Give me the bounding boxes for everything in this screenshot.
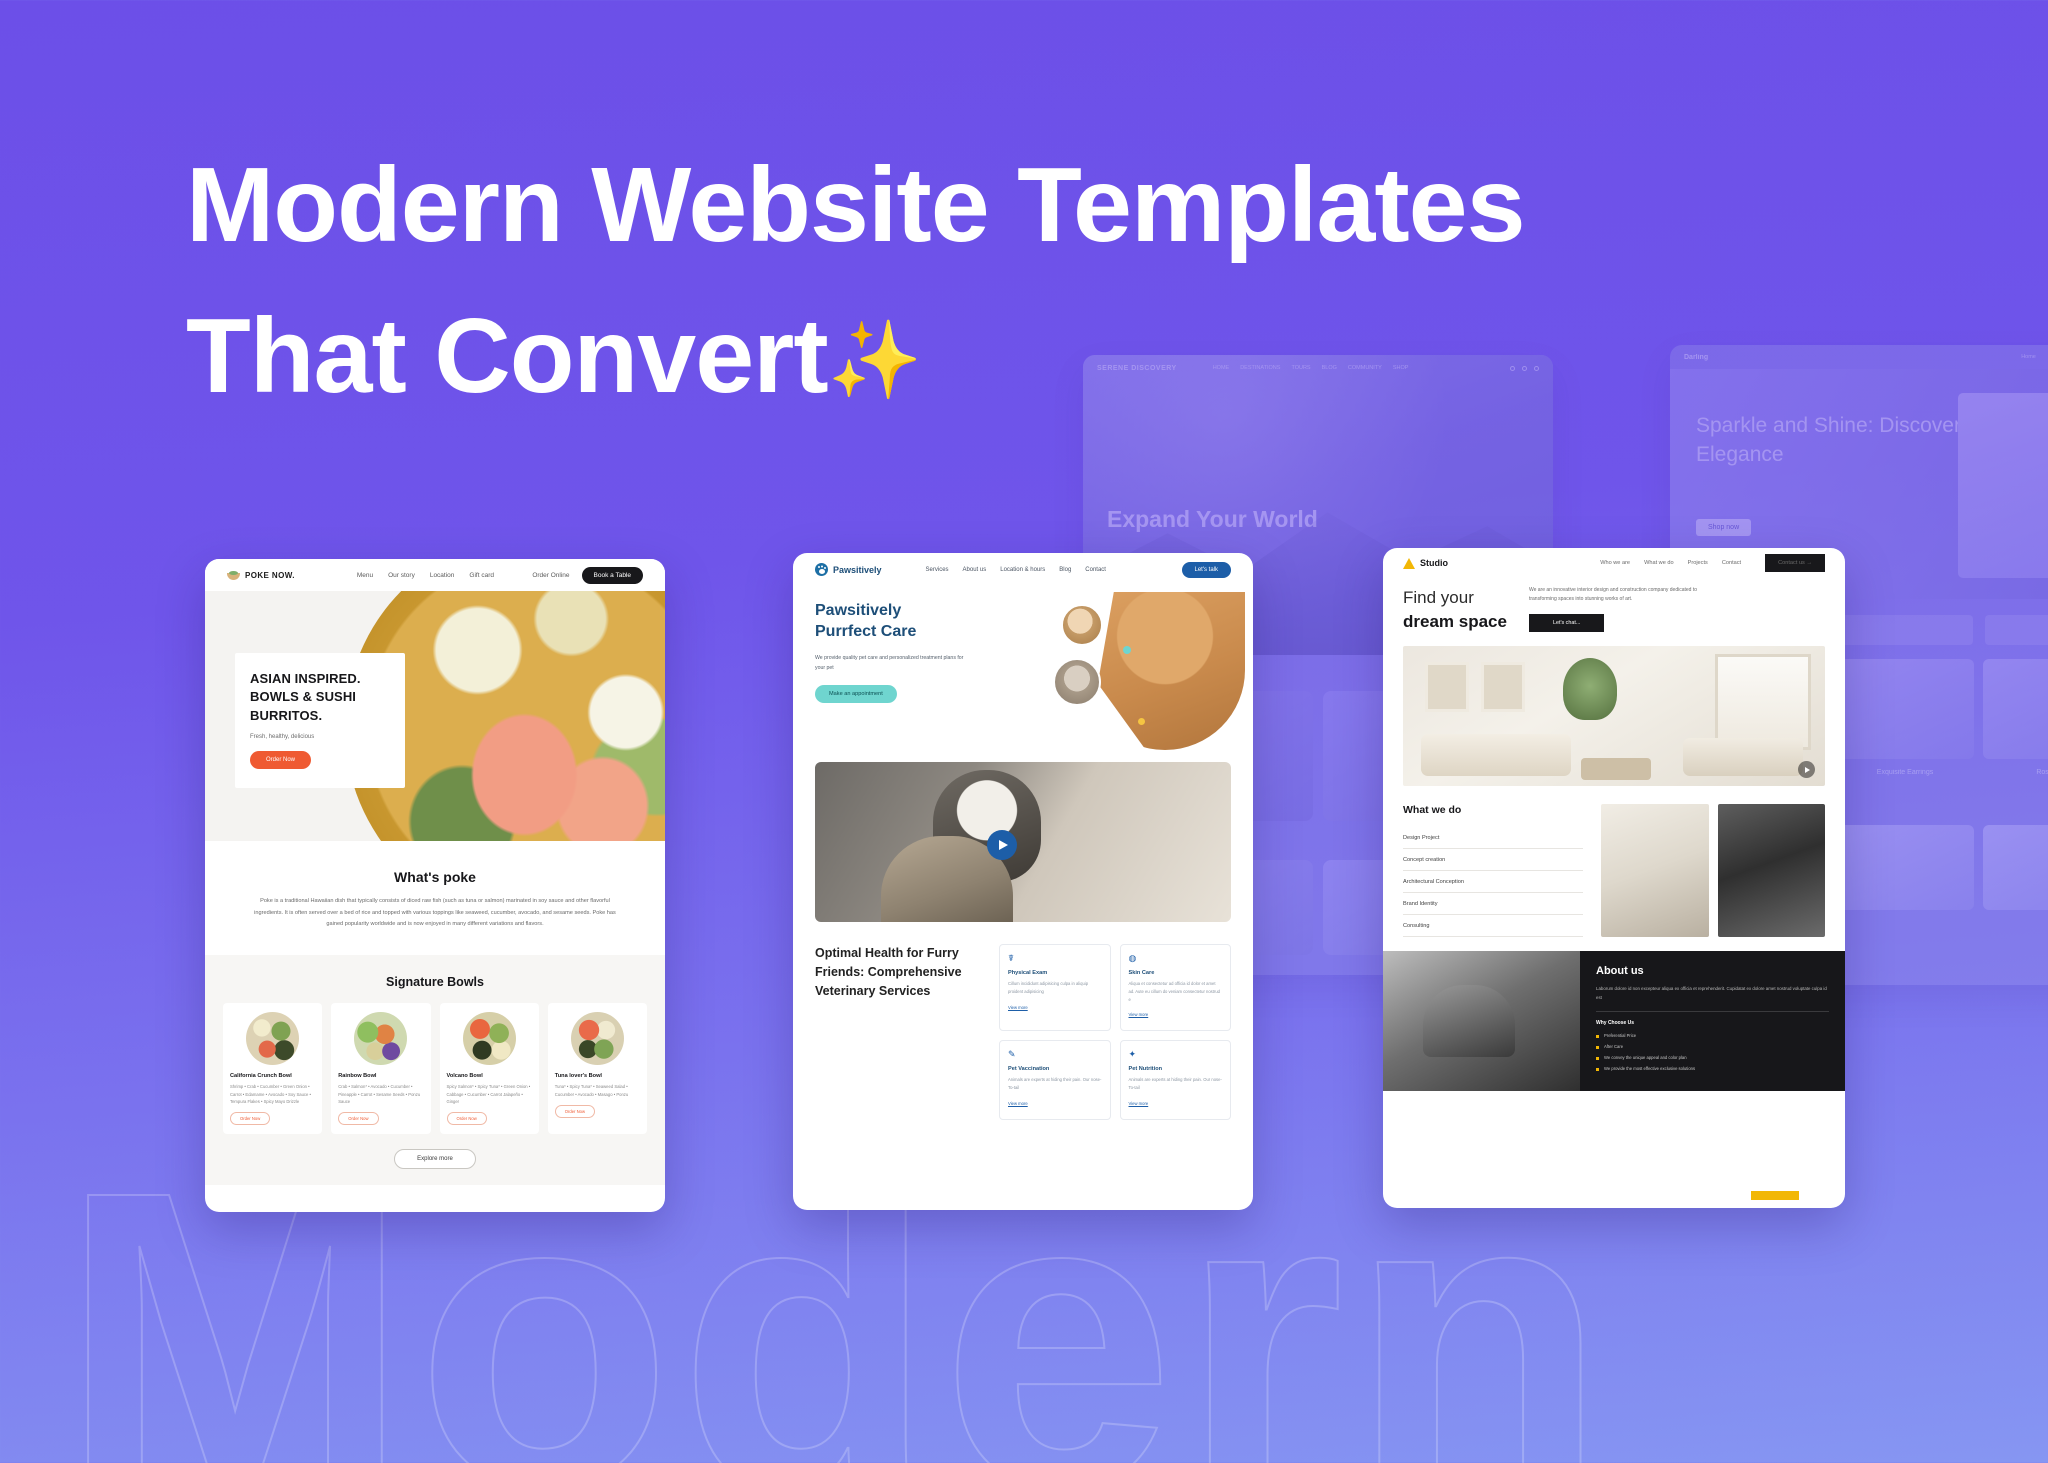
jewelry-collection-image[interactable] [1836, 825, 1975, 910]
poke-explore-more-button[interactable]: Explore more [394, 1149, 476, 1169]
sofa-icon [1421, 734, 1571, 776]
poke-signature-section: Signature Bowls California Crunch Bowl S… [205, 955, 665, 1185]
bowl-ingredients: Crab • Salmon* • Avocado • Cucumber • Pi… [338, 1083, 423, 1105]
paw-hero-title-line2: Purrfect Care [815, 623, 916, 640]
travel-nav-links[interactable]: HOME DESTINATIONS TOURS BLOG COMMUNITY S… [1213, 365, 1409, 371]
poke-hero: ASIAN INSPIRED. BOWLS & SUSHI BURRITOS. … [205, 591, 665, 841]
page-title: Modern Website Templates That Convert✨ [186, 130, 1886, 431]
paw-service-card[interactable]: ◍ Skin Care Aliqua et consectetur ad off… [1120, 944, 1232, 1031]
service-view-more-link[interactable]: View more [1008, 1101, 1028, 1106]
paw-brand-label: Pawsitively [833, 565, 882, 575]
studio-why-item: We convey the unique appeal and color pl… [1596, 1054, 1829, 1061]
poke-bowl-list: California Crunch Bowl Shrimp • Crab • C… [223, 1003, 647, 1134]
template-card-poke[interactable]: POKE NOW. Menu Our story Location Gift c… [205, 559, 665, 1212]
bowl-name: Volcano Bowl [447, 1073, 532, 1079]
studio-about-image [1383, 951, 1580, 1091]
paw-print-icon [815, 563, 828, 576]
poke-nav-links[interactable]: Menu Our story Location Gift card [357, 572, 494, 579]
paw-services-section: Optimal Health for Furry Friends: Compre… [793, 922, 1253, 1120]
jewelry-nav: Darling Home Shop Collections About [1670, 345, 2048, 369]
poke-nav-actions: Order Online Book a Table [532, 567, 643, 584]
studio-nav-item-what-we-do[interactable]: What we do [1644, 560, 1674, 566]
studio-nav-item-who-we-are[interactable]: Who we are [1600, 560, 1630, 566]
poke-nav-item-gift-card[interactable]: Gift card [469, 572, 494, 579]
service-name: Pet Vaccination [1008, 1066, 1102, 1072]
jewelry-product-image[interactable] [1836, 659, 1975, 759]
service-desc: Animals are experts at hiding their pain… [1129, 1076, 1223, 1092]
paw-nav-item-blog[interactable]: Blog [1059, 567, 1071, 573]
paw-nav-item-about-us[interactable]: About us [963, 567, 987, 573]
jewelry-collection-image[interactable] [1983, 825, 2048, 910]
studio-about-body: Laborum dolore id non excepteur aliqua e… [1596, 985, 1829, 1002]
paw-lets-talk-button[interactable]: Let's talk [1182, 562, 1232, 578]
studio-project-image [1601, 804, 1709, 937]
studio-nav-item-projects[interactable]: Projects [1688, 560, 1708, 566]
poke-signature-title: Signature Bowls [223, 975, 647, 989]
bowl-order-button[interactable]: Order Now [230, 1112, 270, 1125]
headline-line-2: That Convert [186, 297, 828, 415]
bowl-name: Rainbow Bowl [338, 1073, 423, 1079]
bowl-ingredients: Tuna* • Spicy Tuna* • Seaweed Salad • Cu… [555, 1083, 640, 1098]
studio-hero-desc: We are an innovative interior design and… [1529, 586, 1709, 605]
plant-icon [1563, 658, 1617, 720]
jewelry-badge [1837, 615, 1972, 645]
poke-bowl-card[interactable]: California Crunch Bowl Shrimp • Crab • C… [223, 1003, 322, 1134]
bowl-ingredients: Spicy Salmon* • Spicy Tuna* • Green Onio… [447, 1083, 532, 1105]
sparkles-icon: ✨ [828, 318, 922, 403]
bowl-name: California Crunch Bowl [230, 1073, 315, 1079]
jewelry-product-name: Rose Ring [1983, 769, 2048, 776]
cart-icon[interactable] [1534, 366, 1539, 371]
studio-hero-title-line2: dream space [1403, 612, 1507, 631]
studio-lets-chat-button[interactable]: Let's chat... [1529, 614, 1604, 632]
wall-art-icon [1481, 662, 1525, 712]
paw-service-grid: ☤ Physical Exam Cillum incididunt adipis… [999, 944, 1231, 1120]
studio-navbar: Studio Who we are What we do Projects Co… [1383, 548, 1845, 578]
stethoscope-icon: ☤ [1008, 954, 1102, 963]
sofa-icon [1683, 738, 1803, 776]
service-view-more-link[interactable]: View more [1008, 1005, 1028, 1010]
paw-nav-links[interactable]: Services About us Location & hours Blog … [926, 567, 1106, 573]
paw-decor-dot-yellow [1138, 718, 1145, 725]
paw-logo[interactable]: Pawsitively [815, 563, 882, 576]
travel-brand: SERENE DISCOVERY [1097, 365, 1177, 372]
studio-nav-links[interactable]: Who we are What we do Projects Contact C… [1600, 554, 1825, 572]
bowl-icon [227, 571, 240, 580]
paw-service-card[interactable]: ✦ Pet Nutrition Animals are experts at h… [1120, 1040, 1232, 1120]
studio-wwd-item[interactable]: Consulting [1403, 915, 1583, 937]
bowl-image [463, 1012, 516, 1065]
skin-care-icon: ◍ [1129, 954, 1223, 963]
poke-hero-title: ASIAN INSPIRED. BOWLS & SUSHI BURRITOS. [250, 670, 390, 725]
studio-wwd-item[interactable]: Architectural Conception [1403, 871, 1583, 893]
studio-wwd-item[interactable]: Brand Identity [1403, 893, 1583, 915]
studio-hero-title: Find your dream space [1403, 586, 1507, 634]
paw-nav-item-location-hours[interactable]: Location & hours [1000, 567, 1045, 573]
studio-brand-label: Studio [1420, 558, 1448, 568]
jewelry-shop-button[interactable]: Shop now [1696, 519, 1751, 536]
travel-nav-item[interactable]: COMMUNITY [1348, 365, 1382, 371]
studio-why-title: Why Choose Us [1596, 1020, 1829, 1026]
travel-nav-item[interactable]: HOME [1213, 365, 1230, 371]
travel-hero-title: Expand Your World [1107, 505, 1318, 534]
studio-hero-image[interactable] [1403, 646, 1825, 786]
studio-about-title: About us [1596, 965, 1829, 977]
poke-hero-card: ASIAN INSPIRED. BOWLS & SUSHI BURRITOS. … [235, 653, 405, 788]
divider [1596, 1011, 1829, 1012]
studio-wwd-title: What we do [1403, 804, 1583, 816]
coffee-table-icon [1581, 758, 1651, 780]
bowl-order-button[interactable]: Order Now [338, 1112, 378, 1125]
paw-avatar-dog [1061, 604, 1103, 646]
poke-order-online-link[interactable]: Order Online [532, 572, 569, 579]
jewelry-product-name: Exquisite Earrings [1836, 769, 1975, 776]
travel-nav-icons[interactable] [1510, 366, 1539, 371]
triangle-icon [1403, 558, 1415, 569]
poke-about-body: Poke is a traditional Hawaiian dish that… [227, 896, 643, 931]
poke-logo[interactable]: POKE NOW. [227, 571, 295, 580]
poke-nav-item-location[interactable]: Location [430, 572, 455, 579]
poke-book-table-button[interactable]: Book a Table [582, 567, 643, 584]
paw-nav-item-services[interactable]: Services [926, 567, 949, 573]
studio-logo[interactable]: Studio [1403, 558, 1448, 569]
studio-wwd-images [1601, 804, 1825, 937]
service-name: Physical Exam [1008, 970, 1102, 976]
poke-bowl-card[interactable]: Rainbow Bowl Crab • Salmon* • Avocado • … [331, 1003, 430, 1134]
bowl-image [354, 1012, 407, 1065]
travel-nav-item[interactable]: DESTINATIONS [1240, 365, 1280, 371]
travel-nav-item[interactable]: BLOG [1322, 365, 1337, 371]
studio-hero: Find your dream space We are an innovati… [1383, 578, 1845, 634]
jewelry-brand: Darling [1684, 354, 1708, 361]
headline-line-1: Modern Website Templates [186, 146, 1525, 264]
studio-what-we-do-section: What we do Design Project Concept creati… [1383, 786, 1845, 937]
bone-icon: ✦ [1129, 1050, 1223, 1059]
travel-nav: SERENE DISCOVERY HOME DESTINATIONS TOURS… [1083, 355, 1553, 381]
poke-order-now-button[interactable]: Order Now [250, 751, 311, 769]
poke-navbar: POKE NOW. Menu Our story Location Gift c… [205, 559, 665, 591]
service-desc: Cillum incididunt adipisicing culpa in a… [1008, 980, 1102, 996]
syringe-icon: ✎ [1008, 1050, 1102, 1059]
play-icon[interactable] [1798, 761, 1815, 778]
poke-brand-label: POKE NOW. [245, 571, 295, 580]
paw-hero-title-line1: Pawsitively [815, 602, 901, 619]
service-view-more-link[interactable]: View more [1129, 1101, 1149, 1106]
jewelry-nav-item[interactable]: Home [2021, 354, 2036, 360]
paw-avatar-cat [1053, 658, 1101, 706]
window-icon [1715, 654, 1811, 750]
service-desc: Aliqua et consectetur ad officia id dolo… [1129, 980, 1223, 1003]
paw-hero: Pawsitively Purrfect Care We provide qua… [793, 586, 1253, 756]
bowl-image [571, 1012, 624, 1065]
poke-bowl-card[interactable]: Volcano Bowl Spicy Salmon* • Spicy Tuna*… [440, 1003, 539, 1134]
search-icon[interactable] [1510, 366, 1515, 371]
bowl-order-button[interactable]: Order Now [555, 1105, 595, 1118]
wall-art-icon [1425, 662, 1469, 712]
bowl-name: Tuna lover's Bowl [555, 1073, 640, 1079]
template-card-studio[interactable]: Studio Who we are What we do Projects Co… [1383, 548, 1845, 1208]
studio-accent-bar [1751, 1191, 1799, 1200]
paw-service-card[interactable]: ☤ Physical Exam Cillum incididunt adipis… [999, 944, 1111, 1031]
studio-project-image [1718, 804, 1826, 937]
paw-services-title: Optimal Health for Furry Friends: Compre… [815, 944, 985, 1120]
studio-hero-title-line1: Find your [1403, 588, 1474, 607]
poke-nav-item-menu[interactable]: Menu [357, 572, 373, 579]
poke-hero-subtitle: Fresh, healthy, delicious [250, 734, 390, 740]
studio-why-item: After Care [1596, 1043, 1829, 1050]
paw-navbar: Pawsitively Services About us Location &… [793, 553, 1253, 586]
template-card-pawsitively[interactable]: Pawsitively Services About us Location &… [793, 553, 1253, 1210]
studio-about-section: About us Laborum dolore id non excepteur… [1383, 951, 1845, 1091]
studio-wwd-item[interactable]: Design Project [1403, 827, 1583, 849]
studio-nav-item-contact[interactable]: Contact [1722, 560, 1741, 566]
service-name: Pet Nutrition [1129, 1066, 1223, 1072]
studio-hero-right: We are an innovative interior design and… [1529, 586, 1709, 634]
studio-wwd-item[interactable]: Concept creation [1403, 849, 1583, 871]
jewelry-hero-image [1958, 393, 2048, 578]
studio-about-text: About us Laborum dolore id non excepteur… [1580, 951, 1845, 1091]
studio-contact-us-button[interactable]: Contact us → [1765, 554, 1825, 572]
studio-why-item: We provide the most effective exclusive … [1596, 1065, 1829, 1072]
bowl-image [246, 1012, 299, 1065]
paw-service-card[interactable]: ✎ Pet Vaccination Animals are experts at… [999, 1040, 1111, 1120]
poke-about-title: What's poke [227, 869, 643, 885]
paw-hero-subtitle: We provide quality pet care and personal… [815, 653, 965, 673]
user-icon[interactable] [1522, 366, 1527, 371]
paw-video-block[interactable] [815, 762, 1231, 922]
bowl-ingredients: Shrimp • Crab • Cucumber • Green Onion •… [230, 1083, 315, 1105]
service-desc: Animals are experts at hiding their pain… [1008, 1076, 1102, 1092]
travel-nav-item[interactable]: SHOP [1393, 365, 1409, 371]
service-view-more-link[interactable]: View more [1129, 1012, 1149, 1017]
poke-about-section: What's poke Poke is a traditional Hawaii… [205, 841, 665, 955]
jewelry-badge [1985, 615, 2048, 645]
poke-nav-item-our-story[interactable]: Our story [388, 572, 415, 579]
studio-wwd-list: What we do Design Project Concept creati… [1403, 804, 1583, 937]
bowl-order-button[interactable]: Order Now [447, 1112, 487, 1125]
travel-nav-item[interactable]: TOURS [1291, 365, 1310, 371]
paw-appointment-button[interactable]: Make an appointment [815, 685, 897, 703]
paw-decor-dot-teal [1123, 646, 1131, 654]
service-name: Skin Care [1129, 970, 1223, 976]
poke-bowl-card[interactable]: Tuna lover's Bowl Tuna* • Spicy Tuna* • … [548, 1003, 647, 1134]
studio-why-item: Preferential Price [1596, 1032, 1829, 1039]
play-icon[interactable] [987, 830, 1017, 860]
jewelry-product-image[interactable] [1983, 659, 2048, 759]
jewelry-nav-links[interactable]: Home Shop Collections About [2021, 354, 2048, 360]
paw-nav-item-contact[interactable]: Contact [1085, 567, 1106, 573]
